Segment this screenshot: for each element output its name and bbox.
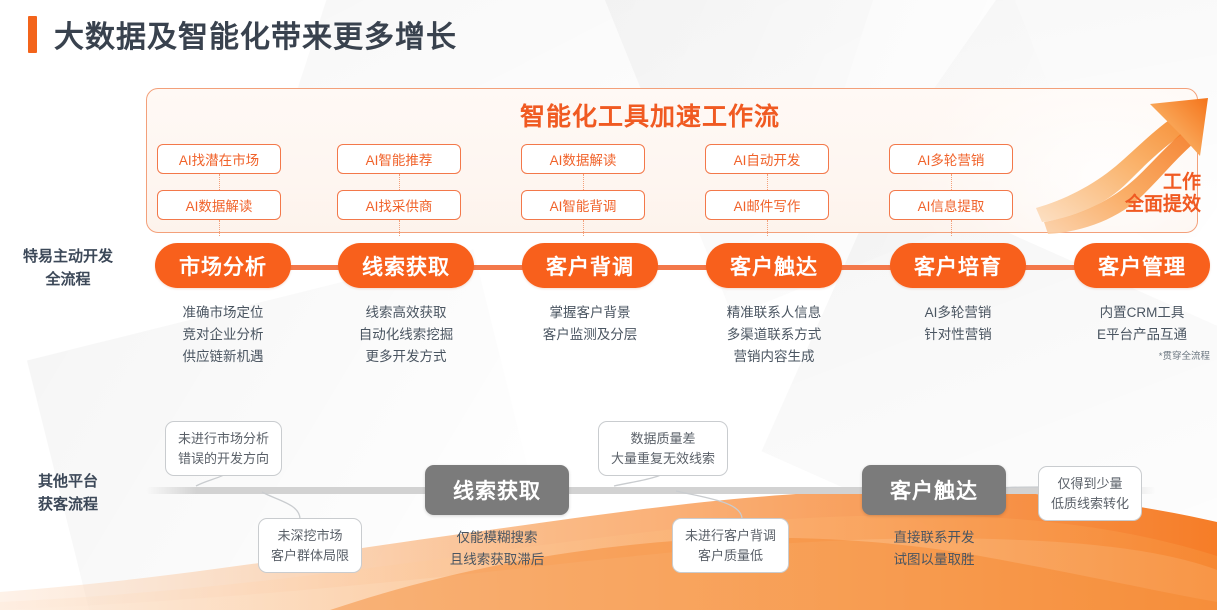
panel-heading: 智能化工具加速工作流 (520, 97, 780, 133)
stage-desc-line: 营销内容生成 (706, 346, 842, 368)
callout-line: 低质线索转化 (1051, 494, 1129, 514)
gray-node-sub: 直接联系开发 试图以量取胜 (862, 527, 1006, 570)
stage-desc: 精准联系人信息 多渠道联系方式 营销内容生成 (706, 302, 842, 368)
arrow-label-line2: 全面提效 (1125, 194, 1201, 216)
arrow-label: 工作 全面提效 (1125, 172, 1201, 215)
ai-tag[interactable]: AI找采供商 (337, 190, 461, 220)
stage-item[interactable]: 客户背调 掌握客户背景 客户监测及分层 (522, 243, 658, 346)
ai-tag[interactable]: AI邮件写作 (705, 190, 829, 220)
ai-tag-column: AI数据解读 AI智能背调 (521, 144, 645, 236)
ai-tag[interactable]: AI自动开发 (705, 144, 829, 174)
stage-desc-line: 更多开发方式 (338, 346, 474, 368)
ai-tag-column: AI找潜在市场 AI数据解读 (157, 144, 281, 236)
callout-line: 未进行客户背调 (685, 526, 776, 546)
stage-desc-line: E平台产品互通 (1074, 324, 1210, 346)
stage-desc-line: AI多轮营销 (890, 302, 1026, 324)
ai-tag[interactable]: AI找潜在市场 (157, 144, 281, 174)
callout-line: 错误的开发方向 (178, 449, 269, 469)
stage-desc: 内置CRM工具 E平台产品互通 (1074, 302, 1210, 346)
stage-desc-line: 针对性营销 (890, 324, 1026, 346)
callout-box[interactable]: 未进行客户背调 客户质量低 (672, 518, 789, 573)
connector-dotted (951, 220, 952, 236)
connector-dotted (399, 174, 400, 190)
connector-dotted (219, 220, 220, 236)
gray-node-sub: 仅能模糊搜索 且线索获取滞后 (425, 527, 569, 570)
stage-item[interactable]: 客户触达 精准联系人信息 多渠道联系方式 营销内容生成 (706, 243, 842, 368)
arrow-label-line1: 工作 (1125, 172, 1201, 194)
gray-node-sub-line: 直接联系开发 (862, 527, 1006, 549)
callout-line: 未进行市场分析 (178, 429, 269, 449)
connector-dotted (219, 174, 220, 190)
row-label-bottom-line2: 获客流程 (2, 493, 134, 516)
row-label-bottom-line1: 其他平台 (2, 470, 134, 493)
connector-dotted (399, 220, 400, 236)
stage-desc-line: 内置CRM工具 (1074, 302, 1210, 324)
gray-node-lead-acquisition[interactable]: 线索获取 (425, 465, 569, 515)
callout-box[interactable]: 数据质量差 大量重复无效线索 (598, 421, 728, 476)
callout-line: 客户群体局限 (271, 546, 349, 566)
stage-pill-customer-reach[interactable]: 客户触达 (706, 243, 842, 288)
ai-tag[interactable]: AI智能推荐 (337, 144, 461, 174)
stage-desc-line: 线索高效获取 (338, 302, 474, 324)
callout-box[interactable]: 未深挖市场 客户群体局限 (258, 518, 362, 573)
stage-desc: 掌握客户背景 客户监测及分层 (522, 302, 658, 346)
stage-desc-line: 精准联系人信息 (706, 302, 842, 324)
stage-desc-line: 供应链新机遇 (155, 346, 291, 368)
stage-pill-market-analysis[interactable]: 市场分析 (155, 243, 291, 288)
stage-desc-line: 客户监测及分层 (522, 324, 658, 346)
title-accent-bar (28, 16, 37, 53)
row-label-top: 特易主动开发 全流程 (2, 245, 134, 292)
stage-item[interactable]: 市场分析 准确市场定位 竞对企业分析 供应链新机遇 (155, 243, 291, 368)
gray-node-sub-line: 试图以量取胜 (862, 549, 1006, 571)
connector-dotted (767, 174, 768, 190)
ai-tag[interactable]: AI多轮营销 (889, 144, 1013, 174)
stage-desc: AI多轮营销 针对性营销 (890, 302, 1026, 346)
page-title: 大数据及智能化带来更多增长 (28, 12, 457, 56)
connector-dotted (951, 174, 952, 190)
stage-desc-line: 多渠道联系方式 (706, 324, 842, 346)
connector-dotted (583, 220, 584, 236)
callout-box[interactable]: 仅得到少量 低质线索转化 (1038, 466, 1142, 521)
row-label-top-line2: 全流程 (2, 268, 134, 291)
callout-line: 数据质量差 (611, 429, 715, 449)
gray-node-sub-line: 且线索获取滞后 (425, 549, 569, 571)
row-label-bottom: 其他平台 获客流程 (2, 470, 134, 517)
stage-desc: 准确市场定位 竞对企业分析 供应链新机遇 (155, 302, 291, 368)
stage-item[interactable]: 客户管理 内置CRM工具 E平台产品互通 *贯穿全流程 (1074, 243, 1210, 362)
callout-box[interactable]: 未进行市场分析 错误的开发方向 (165, 421, 282, 476)
ai-tag-column: AI多轮营销 AI信息提取 (889, 144, 1013, 236)
row-label-top-line1: 特易主动开发 (2, 245, 134, 268)
callout-line: 未深挖市场 (271, 526, 349, 546)
gray-node-sub-line: 仅能模糊搜索 (425, 527, 569, 549)
stage-item[interactable]: 线索获取 线索高效获取 自动化线索挖掘 更多开发方式 (338, 243, 474, 368)
ai-tag-column: AI智能推荐 AI找采供商 (337, 144, 461, 236)
stage-desc: 线索高效获取 自动化线索挖掘 更多开发方式 (338, 302, 474, 368)
ai-tag[interactable]: AI智能背调 (521, 190, 645, 220)
gray-node-customer-reach[interactable]: 客户触达 (862, 465, 1006, 515)
ai-tag[interactable]: AI数据解读 (521, 144, 645, 174)
stage-footnote: *贯穿全流程 (1074, 348, 1210, 362)
stage-pill-customer-background[interactable]: 客户背调 (522, 243, 658, 288)
stage-desc-line: 竞对企业分析 (155, 324, 291, 346)
stage-pill-customer-nurturing[interactable]: 客户培育 (890, 243, 1026, 288)
stage-item[interactable]: 客户培育 AI多轮营销 针对性营销 (890, 243, 1026, 346)
stage-desc-line: 准确市场定位 (155, 302, 291, 324)
ai-tag[interactable]: AI数据解读 (157, 190, 281, 220)
connector-dotted (583, 174, 584, 190)
stage-pill-customer-management[interactable]: 客户管理 (1074, 243, 1210, 288)
callout-line: 客户质量低 (685, 546, 776, 566)
stage-desc-line: 掌握客户背景 (522, 302, 658, 324)
orange-wave-decoration (0, 460, 1217, 610)
stage-pill-lead-acquisition[interactable]: 线索获取 (338, 243, 474, 288)
page-title-text: 大数据及智能化带来更多增长 (54, 12, 457, 56)
stage-desc-line: 自动化线索挖掘 (338, 324, 474, 346)
ai-tag-column: AI自动开发 AI邮件写作 (705, 144, 829, 236)
connector-dotted (767, 220, 768, 236)
callout-line: 仅得到少量 (1051, 474, 1129, 494)
ai-tag[interactable]: AI信息提取 (889, 190, 1013, 220)
callout-line: 大量重复无效线索 (611, 449, 715, 469)
